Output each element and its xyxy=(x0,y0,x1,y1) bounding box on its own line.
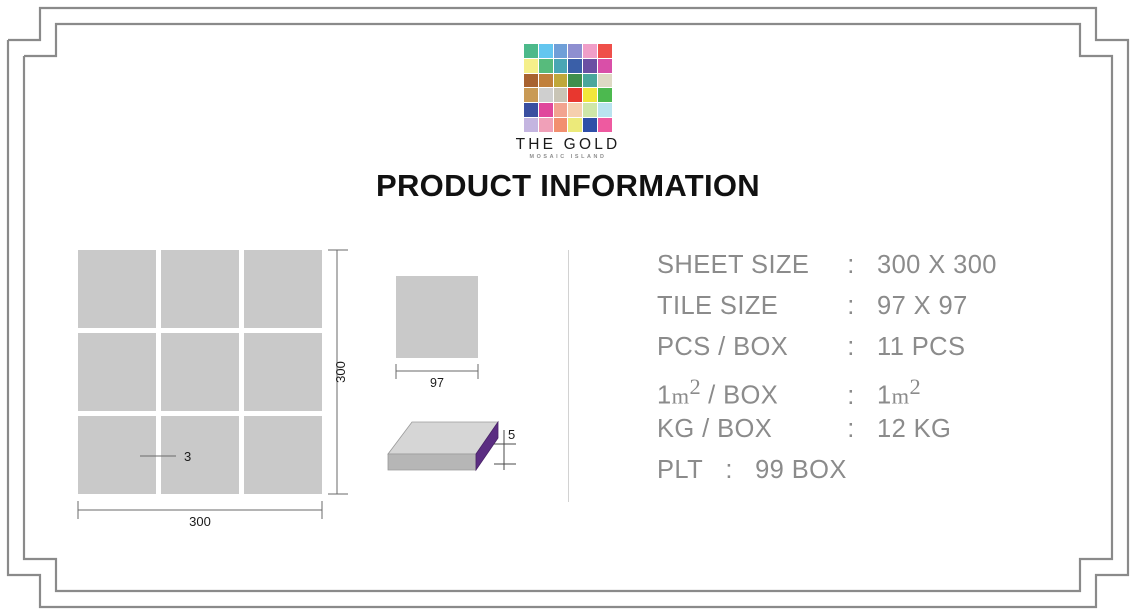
logo-tile-31 xyxy=(539,118,553,132)
spec-value-3-unit-m: m xyxy=(892,384,910,409)
spec-value: 11 PCS xyxy=(877,333,965,362)
sheet-height-label: 300 xyxy=(333,361,348,383)
brand-logo: THE GOLD MOSAIC ISLAND xyxy=(508,44,628,160)
logo-tile-7 xyxy=(539,59,553,73)
logo-tagline: MOSAIC ISLAND xyxy=(508,154,628,160)
spec-value: 12 KG xyxy=(877,415,951,444)
iso-left-face xyxy=(388,454,476,470)
grout-gap-label: 3 xyxy=(184,449,191,464)
spec-label: TILE SIZE xyxy=(657,292,825,321)
single-tile-shape xyxy=(396,276,478,358)
spec-row: PCS / BOX:11 PCS xyxy=(657,333,1077,374)
logo-tile-28 xyxy=(583,103,597,117)
spec-separator: : xyxy=(825,251,877,280)
spec-separator: : xyxy=(825,415,877,444)
sheet-dimension-drawing: 300 300 3 xyxy=(60,238,360,528)
logo-tile-17 xyxy=(598,74,612,88)
tile-thickness-label: 5 xyxy=(508,427,515,442)
logo-tile-23 xyxy=(598,88,612,102)
logo-tile-26 xyxy=(554,103,568,117)
logo-tile-15 xyxy=(568,74,582,88)
spec-value: 97 X 97 xyxy=(877,292,968,321)
logo-tile-5 xyxy=(598,44,612,58)
logo-tile-19 xyxy=(539,88,553,102)
spec-value: 300 X 300 xyxy=(877,251,997,280)
logo-tile-1 xyxy=(539,44,553,58)
sheet-width-label: 300 xyxy=(189,514,211,528)
tile-width-label: 97 xyxy=(430,376,444,388)
page-title: PRODUCT INFORMATION xyxy=(0,168,1136,204)
spec-value: 99 BOX xyxy=(755,456,847,485)
spec-row: KG / BOX:12 KG xyxy=(657,415,1077,456)
spec-row: SHEET SIZE:300 X 300 xyxy=(657,251,1077,292)
spec-label: PLT xyxy=(657,456,703,485)
logo-tile-0 xyxy=(524,44,538,58)
specification-list: SHEET SIZE:300 X 300TILE SIZE:97 X 97PCS… xyxy=(657,251,1077,497)
spec-row: 1m2 / BOX:1m2 xyxy=(657,374,1077,415)
logo-tile-4 xyxy=(583,44,597,58)
logo-tile-16 xyxy=(583,74,597,88)
spec-separator: : xyxy=(825,382,877,411)
spec-row: TILE SIZE:97 X 97 xyxy=(657,292,1077,333)
logo-tile-30 xyxy=(524,118,538,132)
logo-tile-27 xyxy=(568,103,582,117)
logo-tile-24 xyxy=(524,103,538,117)
logo-brand-name: THE GOLD xyxy=(508,137,628,153)
logo-tile-33 xyxy=(568,118,582,132)
logo-mosaic-grid xyxy=(524,44,612,132)
spec-separator: : xyxy=(825,292,877,321)
spec-value-3-superscript: 2 xyxy=(909,374,920,399)
logo-tile-22 xyxy=(583,88,597,102)
spec-label-3-superscript: 2 xyxy=(689,374,700,399)
logo-tile-3 xyxy=(568,44,582,58)
spec-label-3-unit-m: m xyxy=(672,384,690,409)
logo-tile-8 xyxy=(554,59,568,73)
logo-tile-14 xyxy=(554,74,568,88)
spec-separator: : xyxy=(703,456,755,485)
spec-label: SHEET SIZE xyxy=(657,251,825,280)
logo-tile-20 xyxy=(554,88,568,102)
logo-tile-35 xyxy=(598,118,612,132)
logo-tile-21 xyxy=(568,88,582,102)
logo-tile-10 xyxy=(583,59,597,73)
tile-dimension-drawing: 97 xyxy=(378,268,508,388)
logo-tile-29 xyxy=(598,103,612,117)
logo-tile-25 xyxy=(539,103,553,117)
spec-row: PLT:99 BOX xyxy=(657,456,1077,497)
section-divider xyxy=(568,250,569,502)
logo-tile-32 xyxy=(554,118,568,132)
logo-tile-12 xyxy=(524,74,538,88)
sheet-tiles xyxy=(78,250,322,494)
logo-tile-6 xyxy=(524,59,538,73)
logo-tile-9 xyxy=(568,59,582,73)
spec-label: 1m2 / BOX xyxy=(657,374,825,411)
logo-tile-11 xyxy=(598,59,612,73)
product-information-sheet: THE GOLD MOSAIC ISLAND PRODUCT INFORMATI… xyxy=(0,0,1136,615)
spec-separator: : xyxy=(825,333,877,362)
spec-label: PCS / BOX xyxy=(657,333,825,362)
tile-thickness-drawing: 5 xyxy=(366,412,536,507)
logo-tile-18 xyxy=(524,88,538,102)
logo-tile-34 xyxy=(583,118,597,132)
spec-label: KG / BOX xyxy=(657,415,825,444)
spec-value: 1m2 xyxy=(877,374,921,411)
logo-tile-2 xyxy=(554,44,568,58)
logo-tile-13 xyxy=(539,74,553,88)
